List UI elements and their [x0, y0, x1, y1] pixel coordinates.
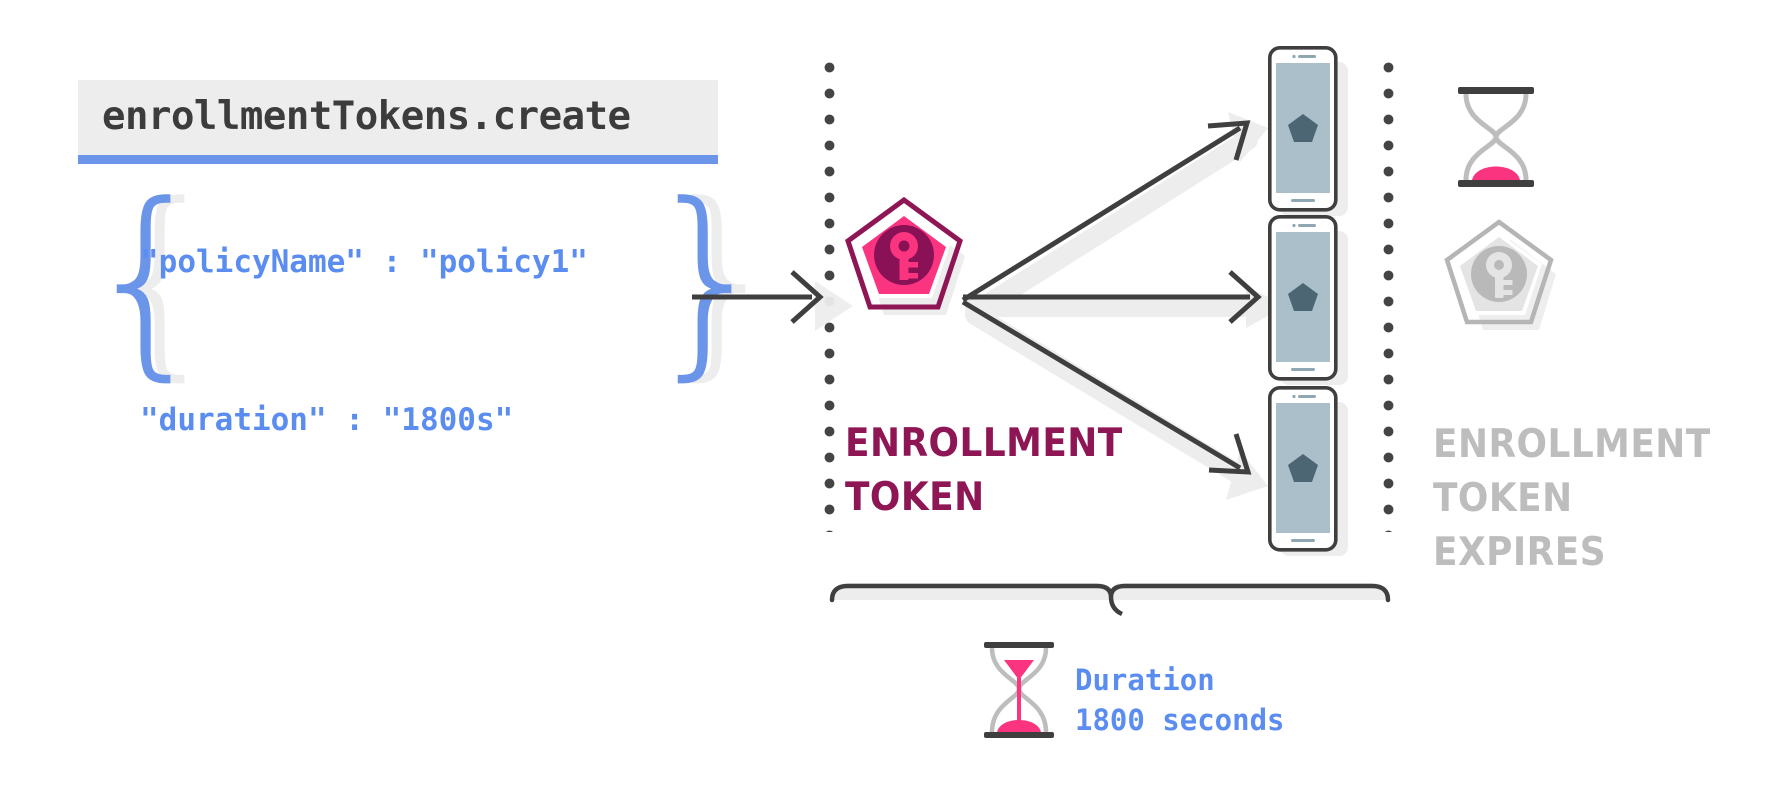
duration-span-brace	[832, 583, 1388, 614]
enrollment-token-expired-icon	[1443, 218, 1561, 336]
device-3-icon	[1268, 386, 1348, 556]
duration-caption: Duration 1800 seconds	[1075, 660, 1285, 740]
device-1-icon	[1268, 46, 1348, 216]
enrollment-token-icon	[845, 196, 970, 321]
device-2-icon	[1268, 215, 1348, 385]
enrollment-token-expires-label: Enrollment Token Expires	[1433, 418, 1711, 580]
request-arrow	[692, 272, 853, 331]
enrollment-token-label: Enrollment Token	[845, 417, 1123, 525]
fanout-arrow-top	[963, 123, 1247, 300]
hourglass-empty-icon	[1452, 84, 1540, 190]
diagram-canvas: enrollmentTokens.create { } { } "policyN…	[0, 0, 1789, 795]
hourglass-running-icon	[980, 640, 1058, 740]
